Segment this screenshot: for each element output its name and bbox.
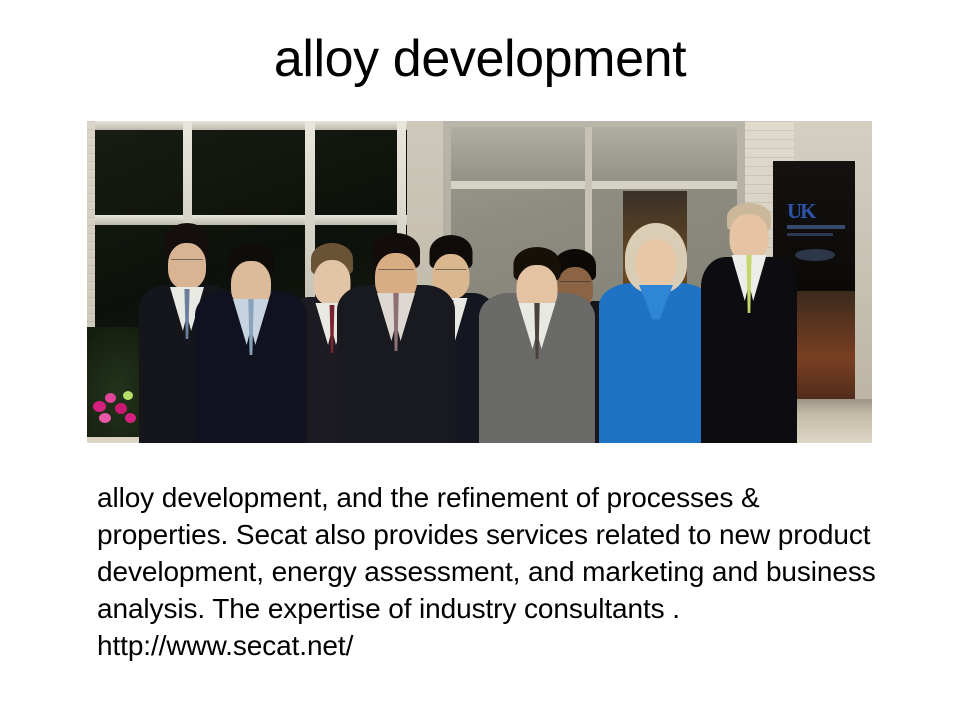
flower: [99, 413, 111, 423]
uk-logo-badge: [795, 249, 835, 261]
person-front-5: [701, 185, 797, 443]
flower: [93, 401, 106, 412]
person-front-4-woman: [599, 227, 713, 443]
flower: [115, 403, 127, 414]
group-photo: SECAT UK: [87, 121, 872, 443]
person-head: [730, 214, 769, 261]
person-front-2: [337, 225, 455, 443]
flower: [123, 391, 133, 400]
person-head: [636, 239, 676, 287]
slide: alloy development SECAT UK: [0, 0, 960, 720]
eyeglasses-icon: [379, 269, 414, 275]
flower: [105, 393, 116, 403]
entry-door-transom: [451, 127, 737, 183]
entry-door-rail: [451, 181, 737, 189]
page-title: alloy development: [0, 28, 960, 90]
window-mullion-horizontal: [95, 121, 407, 130]
person-front-3: [479, 237, 595, 443]
person-front-1: [195, 233, 307, 443]
body-paragraph: alloy development, and the refinement of…: [97, 479, 887, 664]
flower: [125, 413, 136, 423]
